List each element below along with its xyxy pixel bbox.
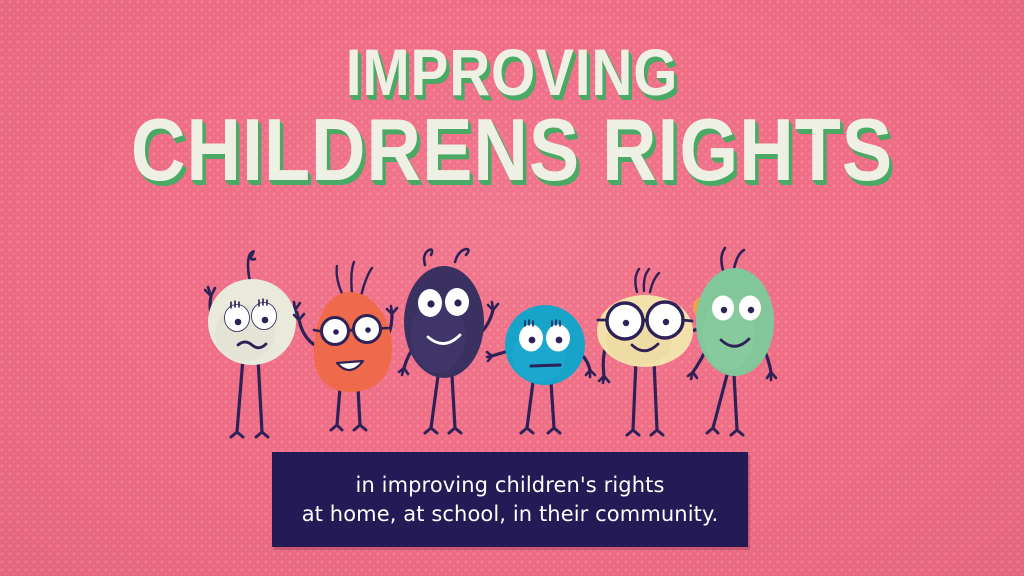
cream-round-character <box>205 251 300 437</box>
slide-canvas: IMPROVING CHILDRENS RIGHTS <box>0 0 1024 576</box>
yellow-glasses-character <box>597 269 709 435</box>
blue-round-character <box>487 305 595 433</box>
coral-glasses-character <box>294 262 397 430</box>
subtitle-line-1: in improving children's rights <box>356 471 665 500</box>
subtitle-line-2: at home, at school, in their community. <box>302 500 719 529</box>
subtitle-banner: in improving children's rights at home, … <box>272 452 748 547</box>
title-line-1: IMPROVING <box>72 40 953 105</box>
title-line-2: CHILDRENS RIGHTS <box>72 107 953 193</box>
page-title: IMPROVING CHILDRENS RIGHTS <box>0 40 1024 193</box>
navy-oval-character <box>399 249 498 433</box>
green-oval-character <box>688 248 776 435</box>
